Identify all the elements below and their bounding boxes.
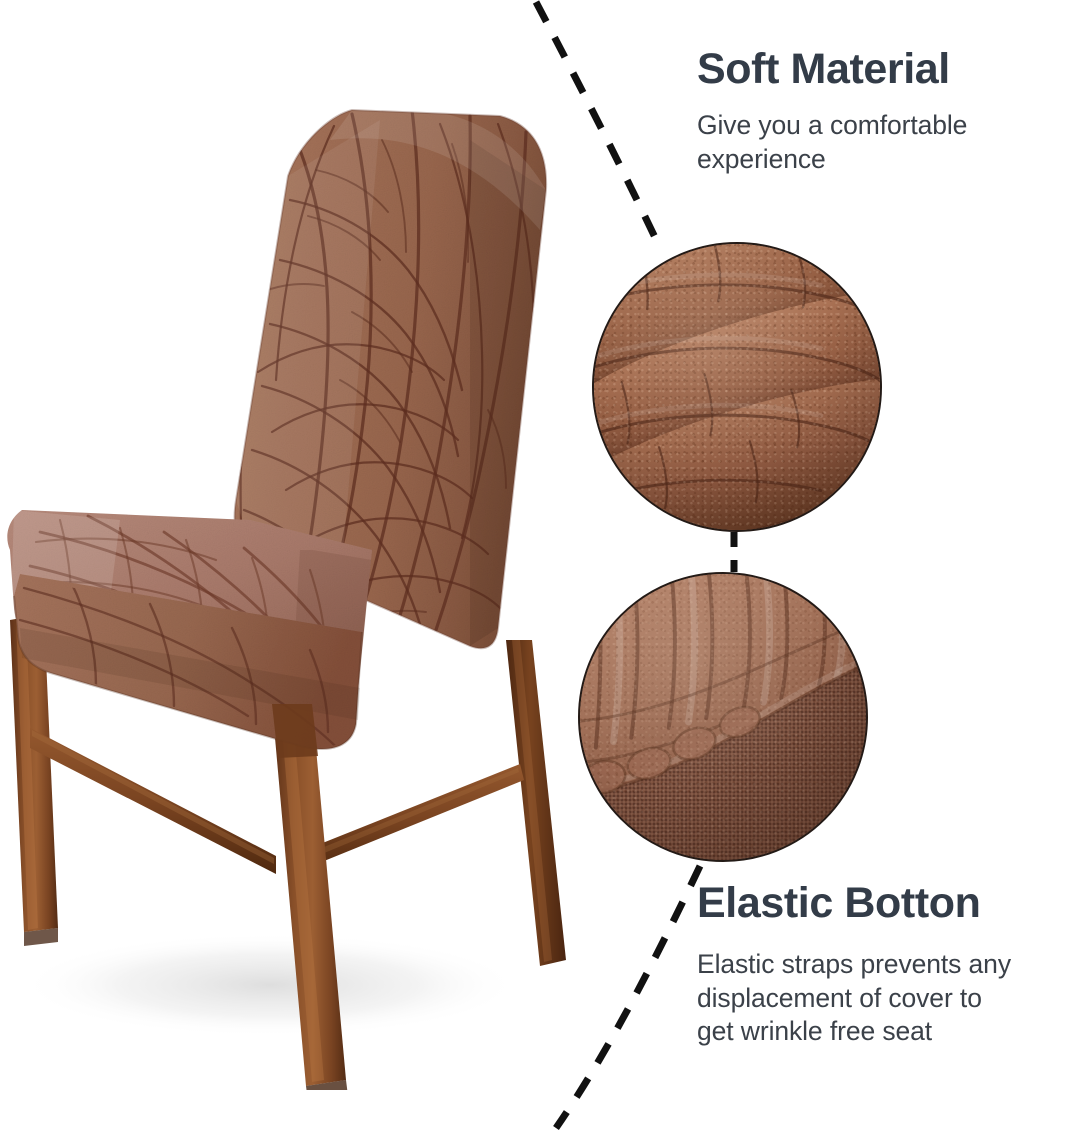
chair-illustration — [0, 80, 600, 1090]
feature-soft-material: Soft Material Give you a comfortable exp… — [697, 46, 1057, 176]
elastic-botton-inset-circle — [578, 572, 868, 862]
infographic-canvas: Soft Material Give you a comfortable exp… — [0, 0, 1080, 1130]
feature-description-line: experience — [697, 143, 1057, 176]
feature-description-line: Give you a comfortable — [697, 109, 1057, 142]
inset-vignette-bottom — [580, 574, 866, 860]
feature-elastic-botton: Elastic Botton Elastic straps prevents a… — [697, 880, 1067, 1049]
floor-shadow — [20, 933, 520, 1037]
feature-description-line: Elastic straps prevents any — [697, 948, 1067, 981]
feature-title-soft-material: Soft Material — [697, 46, 1057, 92]
soft-material-inset-circle — [592, 242, 882, 532]
feature-description-soft-material: Give you a comfortable experience — [697, 109, 1057, 176]
feature-description-elastic-botton: Elastic straps prevents any displacement… — [697, 948, 1067, 1048]
feature-description-line: get wrinkle free seat — [697, 1015, 1067, 1048]
feature-description-line: displacement of cover to — [697, 982, 1067, 1015]
inset-vignette-top — [594, 244, 880, 530]
feature-title-elastic-botton: Elastic Botton — [697, 880, 1067, 926]
